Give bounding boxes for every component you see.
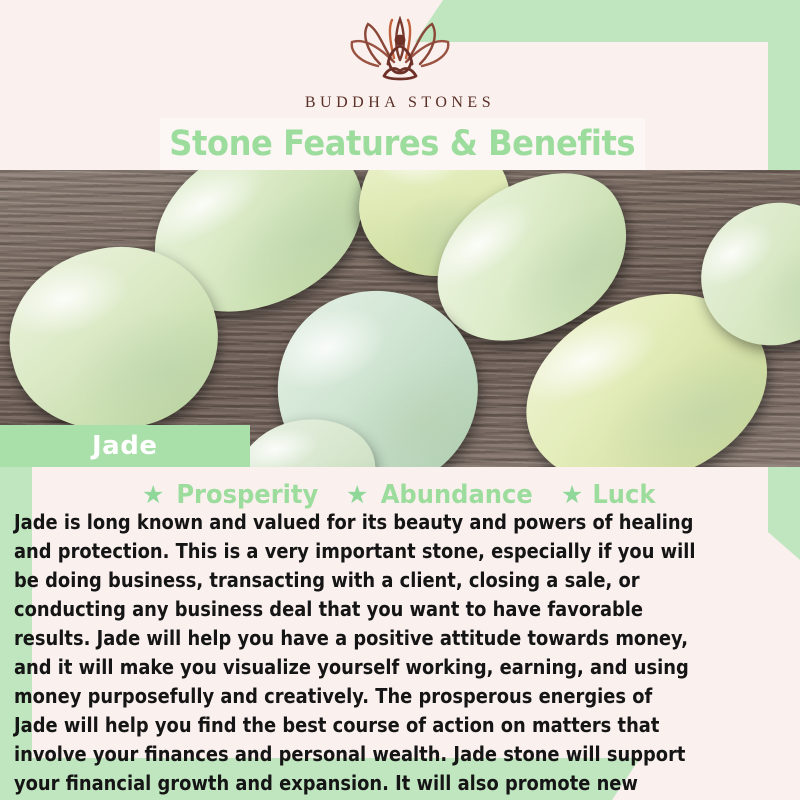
brand-logo-block: BUDDHA STONES	[0, 0, 800, 112]
title-banner: Stone Features & Benefits	[160, 118, 645, 170]
star-icon: ★	[346, 483, 368, 508]
benefit-label: Luck	[593, 480, 656, 510]
stone-name-label: Jade	[92, 431, 157, 461]
benefit-item-abundance: ★ Abundance	[346, 480, 539, 510]
page-title: Stone Features & Benefits	[170, 124, 636, 164]
stone-name-band: Jade	[0, 425, 250, 467]
star-icon: ★	[142, 483, 164, 508]
star-icon: ★	[561, 483, 583, 508]
stone-description: Jade is long known and valued for its be…	[14, 508, 701, 800]
benefit-item-prosperity: ★ Prosperity	[142, 480, 324, 510]
benefits-row: ★ Prosperity ★ Abundance ★ Luck	[0, 480, 800, 510]
brand-name: BUDDHA STONES	[0, 94, 800, 112]
lotus-meditation-icon	[334, 16, 466, 90]
benefit-item-luck: ★ Luck	[561, 480, 658, 510]
benefit-label: Abundance	[381, 480, 533, 510]
stone-photo	[0, 170, 800, 467]
stone-info-card: BUDDHA STONES Stone Features & Benefits	[0, 0, 800, 800]
benefit-label: Prosperity	[177, 480, 319, 510]
